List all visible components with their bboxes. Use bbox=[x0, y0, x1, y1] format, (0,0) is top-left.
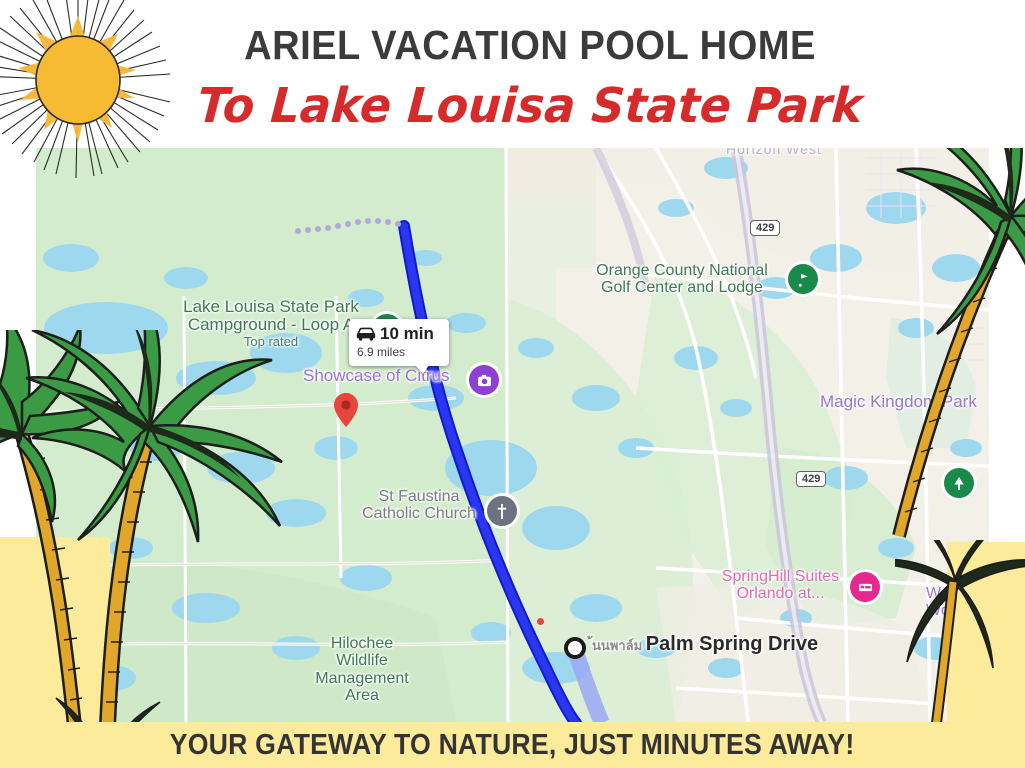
attraction-camera-icon[interactable] bbox=[469, 365, 499, 395]
route-info-card[interactable]: 10 min 6.9 miles bbox=[349, 319, 449, 366]
park-tree-icon[interactable] bbox=[944, 468, 974, 498]
page-subtitle: To Lake Louisa State Park bbox=[163, 78, 896, 134]
church-icon[interactable] bbox=[487, 496, 517, 526]
car-icon bbox=[356, 327, 376, 341]
map-viewport[interactable]: 10 min 6.9 miles Ho bbox=[36, 148, 989, 723]
map-base-tiles bbox=[36, 148, 989, 723]
hotel-icon[interactable] bbox=[850, 572, 880, 602]
footer-right-accent bbox=[947, 542, 1025, 722]
poster-canvas: 10 min 6.9 miles Ho bbox=[0, 0, 1025, 768]
page-title: ARIEL VACATION POOL HOME bbox=[177, 22, 884, 69]
route-duration: 10 min bbox=[380, 324, 434, 344]
highway-shield-429-south[interactable]: 429 bbox=[796, 471, 826, 487]
footer-tagline: YOUR GATEWAY TO NATURE, JUST MINUTES AWA… bbox=[170, 729, 855, 762]
destination-circle-marker[interactable] bbox=[564, 637, 586, 659]
route-distance: 6.9 miles bbox=[356, 345, 441, 359]
route-incident-dot bbox=[537, 618, 544, 625]
header-band: ARIEL VACATION POOL HOME To Lake Louisa … bbox=[0, 0, 1025, 148]
footer-banner: YOUR GATEWAY TO NATURE, JUST MINUTES AWA… bbox=[0, 722, 1025, 768]
golf-icon[interactable] bbox=[788, 264, 818, 294]
highway-shield-429-north[interactable]: 429 bbox=[750, 220, 780, 236]
footer-left-accent bbox=[0, 537, 110, 722]
origin-pin-marker[interactable] bbox=[334, 393, 358, 427]
